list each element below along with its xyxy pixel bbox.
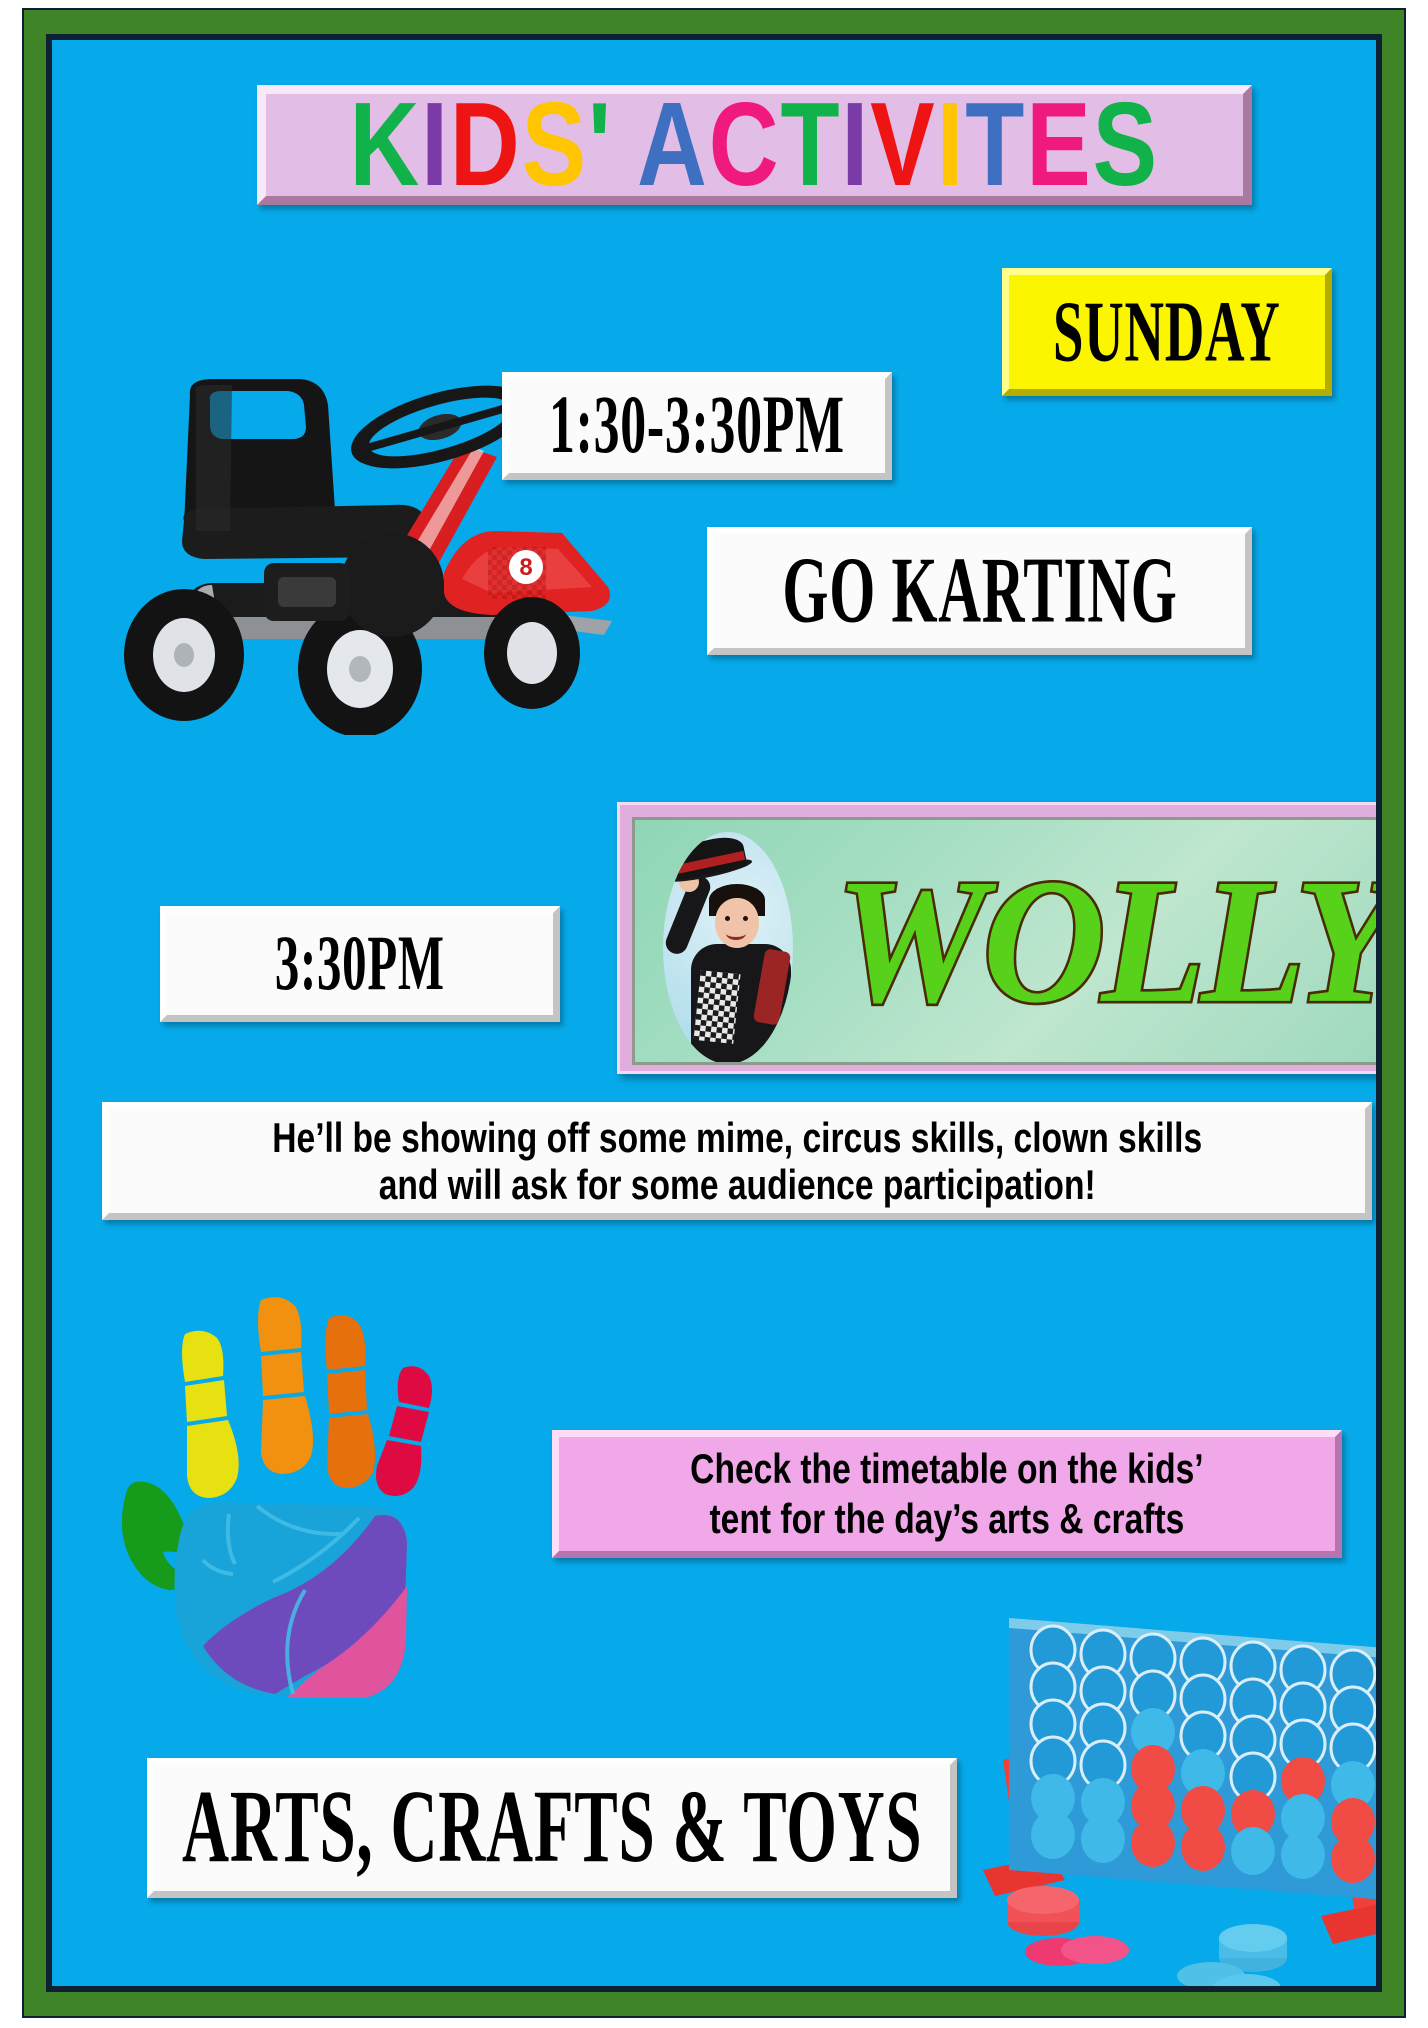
title-letter-10: V <box>870 86 936 205</box>
go-karting-time: 1:30-3:30PM <box>549 385 845 468</box>
title-letter-14: S <box>1093 86 1159 205</box>
timetable-notice-line-1: Check the timetable on the kids’ <box>690 1444 1203 1494</box>
title-letter-6: A <box>637 86 709 205</box>
timetable-notice: Check the timetable on the kids’ tent fo… <box>690 1444 1203 1545</box>
wolly-time: 3:30PM <box>275 925 445 1003</box>
handprint-image <box>107 1290 437 1700</box>
connect-four-image <box>947 1570 1376 1986</box>
wolly-banner-inner: WOLLY <box>632 817 1376 1065</box>
go-karting-label-plaque: GO KARTING <box>707 527 1252 655</box>
title-letter-0: K <box>350 86 422 205</box>
go-karting-label: GO KARTING <box>782 544 1177 638</box>
title-letter-1: I <box>421 86 450 205</box>
go-karting-time-plaque: 1:30-3:30PM <box>502 372 892 480</box>
poster-canvas: KIDS'ACTIVITES SUNDAY <box>52 40 1376 1986</box>
wolly-banner: WOLLY <box>617 802 1376 1074</box>
page-title: KIDS'ACTIVITES <box>350 86 1160 205</box>
poster: KIDS'ACTIVITES SUNDAY <box>0 0 1428 2028</box>
title-letter-7: C <box>709 86 781 205</box>
title-letter-4: ' <box>588 86 613 205</box>
wolly-performer-photo <box>663 832 793 1064</box>
title-letter-13: E <box>1026 86 1092 205</box>
wolly-description-plaque: He’ll be showing off some mime, circus s… <box>102 1102 1372 1220</box>
arts-crafts-label-plaque: ARTS, CRAFTS & TOYS <box>147 1758 957 1898</box>
title-letter-2: D <box>450 86 522 205</box>
svg-text:8: 8 <box>519 554 532 581</box>
title-letter-12: T <box>966 86 1027 205</box>
wolly-time-plaque: 3:30PM <box>160 906 560 1022</box>
title-letter-11: I <box>937 86 966 205</box>
title-letter-3: S <box>522 86 588 205</box>
timetable-notice-line-2: tent for the day’s arts & crafts <box>690 1494 1203 1544</box>
wolly-description-line-2: and will ask for some audience participa… <box>272 1161 1202 1208</box>
page-title-plaque: KIDS'ACTIVITES <box>257 85 1252 205</box>
wolly-wordmark: WOLLY <box>815 820 1376 1062</box>
title-letter-9: I <box>842 86 871 205</box>
wolly-description-line-1: He’ll be showing off some mime, circus s… <box>272 1114 1202 1161</box>
wolly-description: He’ll be showing off some mime, circus s… <box>272 1114 1202 1208</box>
title-letter-8: T <box>781 86 842 205</box>
timetable-notice-plaque: Check the timetable on the kids’ tent fo… <box>552 1430 1342 1558</box>
arts-crafts-label: ARTS, CRAFTS & TOYS <box>182 1776 922 1880</box>
day-badge: SUNDAY <box>1002 268 1332 396</box>
day-badge-label: SUNDAY <box>1053 288 1281 375</box>
